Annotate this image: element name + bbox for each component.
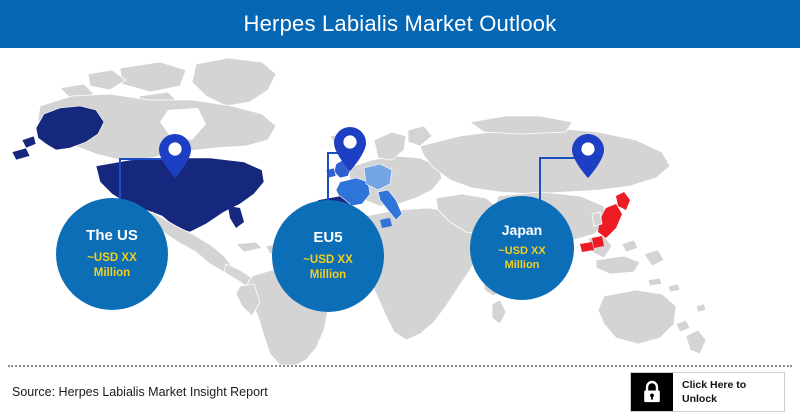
- callout-value-eu5: ~USD XX Million: [303, 253, 353, 282]
- footer-divider: [8, 365, 792, 367]
- callout-name-japan: Japan: [502, 223, 542, 238]
- callout-bubble-japan[interactable]: Japan ~USD XX Million: [470, 196, 574, 300]
- callout-value-us: ~USD XX Million: [87, 251, 137, 280]
- callout-bubble-eu5[interactable]: EU5 ~USD XX Million: [272, 200, 384, 312]
- callout-name-us: The US: [86, 228, 138, 245]
- page-title: Herpes Labialis Market Outlook: [244, 13, 557, 35]
- callout-value-japan: ~USD XX Million: [498, 245, 545, 273]
- lock-icon-container: [631, 373, 673, 411]
- callout-bubble-us[interactable]: The US ~USD XX Million: [56, 198, 168, 310]
- map-pin-us[interactable]: [158, 133, 192, 179]
- source-label: Source: Herpes Labialis Market Insight R…: [12, 385, 268, 400]
- lock-icon: [642, 380, 662, 404]
- unlock-button-label: Click Here to Unlock: [673, 373, 784, 411]
- click-here-to-unlock-button[interactable]: Click Here to Unlock: [630, 372, 785, 412]
- world-map-container: The US ~USD XX Million EU5 ~USD XX Milli…: [0, 48, 800, 365]
- callout-name-eu5: EU5: [313, 230, 342, 247]
- header-bar: Herpes Labialis Market Outlook: [0, 0, 800, 48]
- map-pin-eu5[interactable]: [333, 126, 367, 172]
- map-pin-japan[interactable]: [571, 133, 605, 179]
